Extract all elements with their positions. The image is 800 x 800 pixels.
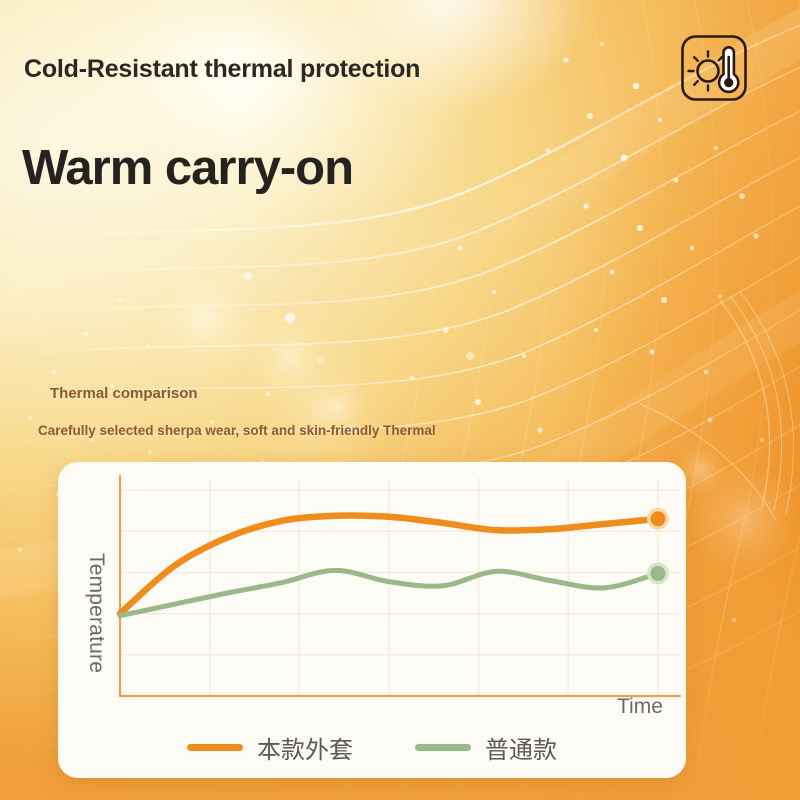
section-description: Carefully selected sherpa wear, soft and… <box>38 423 436 438</box>
y-axis-label: Temperature <box>84 553 108 673</box>
page-kicker: Cold-Resistant thermal protection <box>24 55 420 84</box>
page-title: Warm carry-on <box>22 140 353 196</box>
chart-series-1 <box>120 562 669 615</box>
legend-label-1: 普通款 <box>485 730 557 765</box>
x-axis-label: Time <box>617 695 663 719</box>
section-title: Thermal comparison <box>50 385 198 402</box>
poster-root: Cold-Resistant thermal protection Warm c… <box>0 0 800 800</box>
legend-swatch-icon-0 <box>187 744 243 751</box>
chart-legend: 本款外套 普通款 <box>58 730 686 765</box>
legend-swatch-icon-1 <box>415 744 471 751</box>
legend-label-0: 本款外套 <box>257 730 353 765</box>
sun-thermometer-icon <box>679 33 749 103</box>
legend-item-0[interactable]: 本款外套 <box>187 730 353 765</box>
legend-item-1[interactable]: 普通款 <box>415 730 557 765</box>
